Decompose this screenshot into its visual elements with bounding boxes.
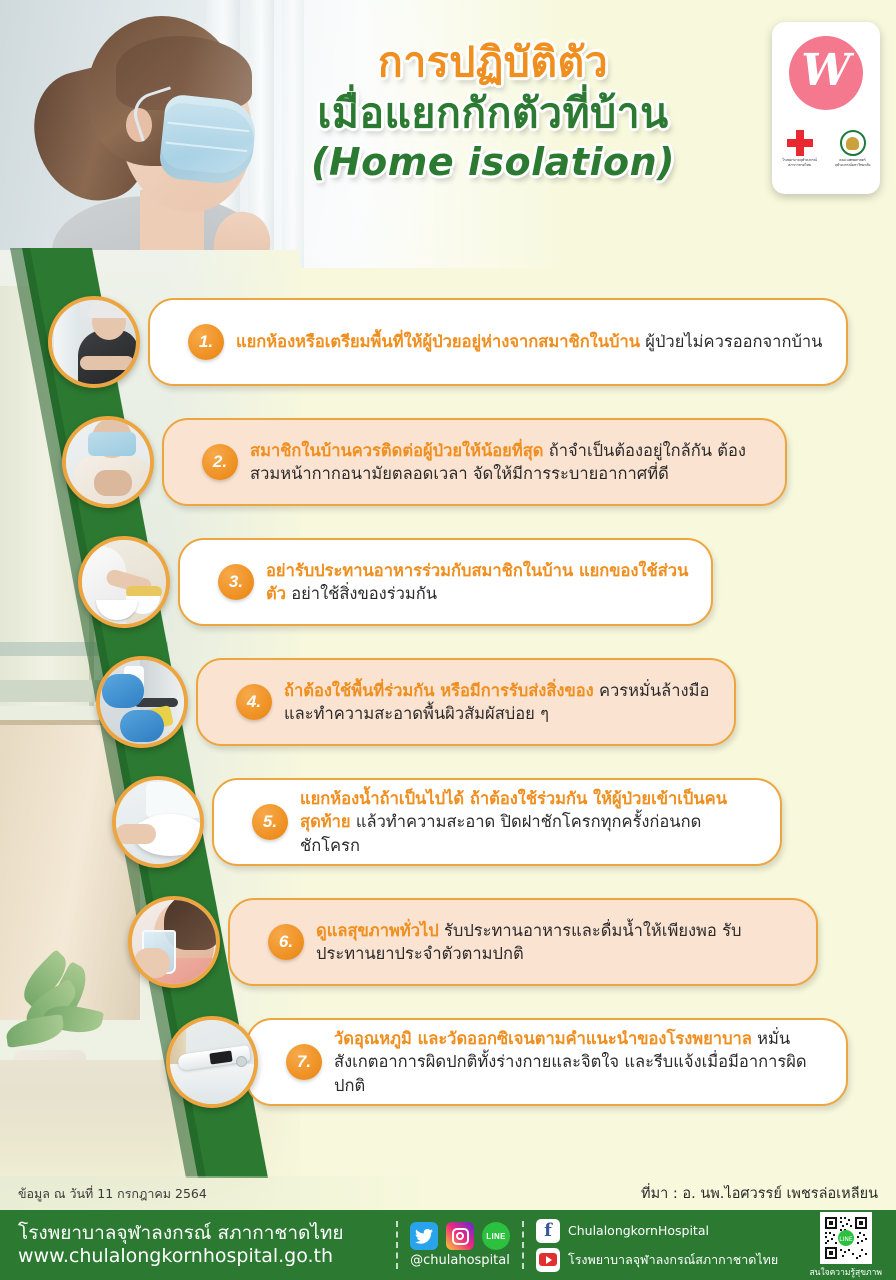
source-credit: ที่มา : อ. นพ.ไอศวรรย์ เพชรล่อเหลียน bbox=[641, 1182, 878, 1205]
instruction-card[interactable]: 6. ดูแลสุขภาพทั่วไป รับประทานอาหารและดื่… bbox=[228, 898, 818, 986]
sublogo-1-caption: โรงพยาบาลจุฬาลงกรณ์ สภากาชาดไทย bbox=[778, 158, 822, 168]
social-handle: @chulahospital bbox=[410, 1253, 510, 1268]
item-text: อย่ารับประทานอาหารร่วมกับสมาชิกในบ้าน แย… bbox=[266, 559, 691, 606]
item-thumbnail-4 bbox=[96, 656, 188, 748]
item-text: แยกห้องน้ำถ้าเป็นไปได้ ถ้าต้องใช้ร่วมกัน… bbox=[300, 787, 760, 857]
footer-bar: โรงพยาบาลจุฬาลงกรณ์ สภากาชาดไทย www.chul… bbox=[0, 1210, 896, 1280]
item-thumbnail-6 bbox=[128, 896, 220, 988]
list-item: 1. แยกห้องหรือเตรียมพื้นที่ให้ผู้ป่วยอยู… bbox=[0, 290, 896, 410]
red-cross-icon bbox=[787, 130, 813, 156]
item-highlight: สมาชิกในบ้านควรติดต่อผู้ป่วยให้น้อยที่สุ… bbox=[250, 441, 544, 460]
org-name: โรงพยาบาลจุฬาลงกรณ์ สภากาชาดไทย bbox=[18, 1222, 396, 1245]
item-thumbnail-7 bbox=[166, 1016, 258, 1108]
youtube-icon bbox=[536, 1248, 560, 1272]
sublogo-faculty-of-medicine: คณะแพทยศาสตร์ จุฬาลงกรณ์มหาวิทยาลัย bbox=[831, 130, 875, 168]
poster-canvas: การปฏิบัติตัว เมื่อแยกกักตัวที่บ้าน (Hom… bbox=[0, 0, 896, 1280]
twitter-icon[interactable] bbox=[410, 1222, 438, 1250]
line-icon-label: LINE bbox=[486, 1232, 505, 1241]
item-highlight: ดูแลสุขภาพทั่วไป bbox=[316, 921, 439, 940]
sublogo-red-cross: โรงพยาบาลจุฬาลงกรณ์ สภากาชาดไทย bbox=[778, 130, 822, 168]
item-number: 2. bbox=[202, 444, 238, 480]
svg-text:LINE: LINE bbox=[839, 1236, 853, 1243]
line-qr-code[interactable]: LINE bbox=[820, 1212, 872, 1264]
facebook-row[interactable]: f ChulalongkornHospital bbox=[536, 1219, 778, 1243]
social-group-handles: LINE @chulahospital bbox=[398, 1222, 522, 1268]
faculty-emblem-icon bbox=[840, 130, 866, 156]
qr-caption: สนใจความรู้สุขภาพ bbox=[809, 1265, 882, 1279]
instruction-card[interactable]: 3. อย่ารับประทานอาหารร่วมกับสมาชิกในบ้าน… bbox=[178, 538, 713, 626]
credits-row: ข้อมูล ณ วันที่ 11 กรกฎาคม 2564 ที่มา : … bbox=[0, 1176, 896, 1210]
title-line-1: การปฏิบัติตัว bbox=[228, 40, 758, 84]
website-url[interactable]: www.chulalongkornhospital.go.th bbox=[18, 1245, 396, 1269]
instruction-list: 1. แยกห้องหรือเตรียมพื้นที่ให้ผู้ป่วยอยู… bbox=[0, 290, 896, 1130]
page-title: การปฏิบัติตัว เมื่อแยกกักตัวที่บ้าน (Hom… bbox=[228, 40, 758, 183]
w-logo-icon: W bbox=[789, 36, 863, 110]
list-item: 2. สมาชิกในบ้านควรติดต่อผู้ป่วยให้น้อยที… bbox=[0, 410, 896, 530]
list-item: 5. แยกห้องน้ำถ้าเป็นไปได้ ถ้าต้องใช้ร่วม… bbox=[0, 770, 896, 890]
social-group-pages: f ChulalongkornHospital โรงพยาบาลจุฬาลงก… bbox=[524, 1219, 790, 1272]
item-number: 3. bbox=[218, 564, 254, 600]
facebook-icon: f bbox=[536, 1219, 560, 1243]
item-rest: ผู้ป่วยไม่ควรออกจากบ้าน bbox=[640, 332, 822, 351]
item-number: 5. bbox=[252, 804, 288, 840]
list-item: 4. ถ้าต้องใช้พื้นที่ร่วมกัน หรือมีการรับ… bbox=[0, 650, 896, 770]
instruction-card[interactable]: 1. แยกห้องหรือเตรียมพื้นที่ให้ผู้ป่วยอยู… bbox=[148, 298, 848, 386]
sublogo-2-caption: คณะแพทยศาสตร์ จุฬาลงกรณ์มหาวิทยาลัย bbox=[831, 158, 875, 168]
item-highlight: วัดอุณหภูมิ และวัดออกซิเจนตามคำแนะนำของโ… bbox=[334, 1029, 752, 1048]
sub-logos: โรงพยาบาลจุฬาลงกรณ์ สภากาชาดไทย คณะแพทยศ… bbox=[778, 130, 875, 168]
data-date-note: ข้อมูล ณ วันที่ 11 กรกฎาคม 2564 bbox=[18, 1184, 207, 1204]
social-icons-row: LINE bbox=[410, 1222, 510, 1250]
item-thumbnail-3 bbox=[78, 536, 170, 628]
item-text: แยกห้องหรือเตรียมพื้นที่ให้ผู้ป่วยอยู่ห่… bbox=[236, 330, 822, 353]
footer-brand: โรงพยาบาลจุฬาลงกรณ์ สภากาชาดไทย www.chul… bbox=[0, 1222, 396, 1269]
item-number: 6. bbox=[268, 924, 304, 960]
list-item: 3. อย่ารับประทานอาหารร่วมกับสมาชิกในบ้าน… bbox=[0, 530, 896, 650]
item-text: ดูแลสุขภาพทั่วไป รับประทานอาหารและดื่มน้… bbox=[316, 919, 796, 966]
w-monogram: W bbox=[801, 49, 850, 93]
instruction-card[interactable]: 2. สมาชิกในบ้านควรติดต่อผู้ป่วยให้น้อยที… bbox=[162, 418, 787, 506]
youtube-label: โรงพยาบาลจุฬาลงกรณ์สภากาชาดไทย bbox=[568, 1250, 778, 1270]
title-line-3: (Home isolation) bbox=[228, 142, 758, 183]
item-number: 4. bbox=[236, 684, 272, 720]
brand-logo-card: W โรงพยาบาลจุฬาลงกรณ์ สภากาชาดไทย คณะแพท… bbox=[772, 22, 880, 194]
item-highlight: ถ้าต้องใช้พื้นที่ร่วมกัน หรือมีการรับส่ง… bbox=[284, 681, 594, 700]
item-text: สมาชิกในบ้านควรติดต่อผู้ป่วยให้น้อยที่สุ… bbox=[250, 439, 765, 486]
item-thumbnail-1 bbox=[48, 296, 140, 388]
list-item: 7. วัดอุณหภูมิ และวัดออกซิเจนตามคำแนะนำข… bbox=[0, 1010, 896, 1130]
item-text: ถ้าต้องใช้พื้นที่ร่วมกัน หรือมีการรับส่ง… bbox=[284, 679, 714, 726]
line-icon[interactable]: LINE bbox=[482, 1222, 510, 1250]
item-text: วัดอุณหภูมิ และวัดออกซิเจนตามคำแนะนำของโ… bbox=[334, 1027, 826, 1097]
instagram-icon[interactable] bbox=[446, 1222, 474, 1250]
item-thumbnail-2 bbox=[62, 416, 154, 508]
instruction-card[interactable]: 4. ถ้าต้องใช้พื้นที่ร่วมกัน หรือมีการรับ… bbox=[196, 658, 736, 746]
instruction-card[interactable]: 5. แยกห้องน้ำถ้าเป็นไปได้ ถ้าต้องใช้ร่วม… bbox=[212, 778, 782, 866]
facebook-label: ChulalongkornHospital bbox=[568, 1223, 709, 1238]
title-line-2: เมื่อแยกกักตัวที่บ้าน bbox=[228, 91, 758, 135]
youtube-row[interactable]: โรงพยาบาลจุฬาลงกรณ์สภากาชาดไทย bbox=[536, 1248, 778, 1272]
qr-area: LINE สนใจความรู้สุขภาพ bbox=[809, 1212, 896, 1279]
item-number: 7. bbox=[286, 1044, 322, 1080]
list-item: 6. ดูแลสุขภาพทั่วไป รับประทานอาหารและดื่… bbox=[0, 890, 896, 1010]
item-number: 1. bbox=[188, 324, 224, 360]
item-thumbnail-5 bbox=[112, 776, 204, 868]
item-rest: แล้วทำความสะอาด ปิดฝาชักโครกทุกครั้งก่อน… bbox=[300, 812, 701, 854]
instruction-card[interactable]: 7. วัดอุณหภูมิ และวัดออกซิเจนตามคำแนะนำข… bbox=[246, 1018, 848, 1106]
item-rest: อย่าใช้สิ่งของร่วมกัน bbox=[286, 584, 437, 603]
item-highlight: แยกห้องหรือเตรียมพื้นที่ให้ผู้ป่วยอยู่ห่… bbox=[236, 332, 640, 351]
